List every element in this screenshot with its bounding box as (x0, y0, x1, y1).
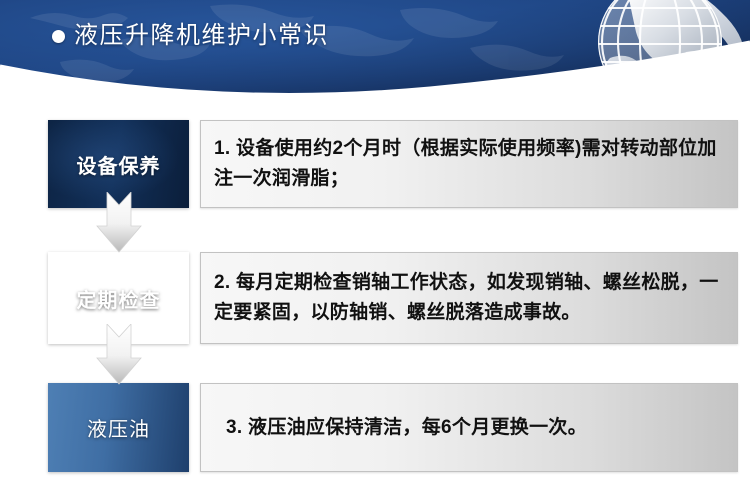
page-title-text: 液压升降机维护小常识 (74, 22, 329, 50)
header-background (0, 0, 750, 105)
step-content-text-2: 2. 每月定期检查销轴工作状态，如发现销轴、螺丝松脱，一定要紧固，以防轴销、螺丝… (201, 268, 737, 328)
page-header: 液压升降机维护小常识 (0, 0, 750, 105)
step-label-text-2: 定期检查 (77, 284, 161, 313)
step-content-box-3: 3. 液压油应保持清洁，每6个月更换一次。 (200, 383, 738, 472)
step-content-box-1: 1. 设备使用约2个月时（根据实际使用频率)需对转动部位加注一次润滑脂； (200, 120, 738, 208)
down-arrow-icon (96, 324, 142, 386)
step-content-box-2: 2. 每月定期检查销轴工作状态，如发现销轴、螺丝松脱，一定要紧固，以防轴销、螺丝… (200, 252, 738, 344)
step-label-text-3: 液压油 (87, 413, 150, 442)
down-arrow-icon (96, 192, 142, 254)
step-row-3: 液压油 3. 液压油应保持清洁，每6个月更换一次。 (0, 383, 750, 472)
step-label-text-1: 设备保养 (77, 150, 161, 179)
step-content-text-1: 1. 设备使用约2个月时（根据实际使用频率)需对转动部位加注一次润滑脂； (201, 134, 737, 194)
step-content-text-3: 3. 液压油应保持清洁，每6个月更换一次。 (201, 413, 601, 443)
bullet-icon (52, 30, 65, 43)
page-title: 液压升降机维护小常识 (52, 22, 329, 50)
step-label-box-3[interactable]: 液压油 (48, 383, 189, 472)
